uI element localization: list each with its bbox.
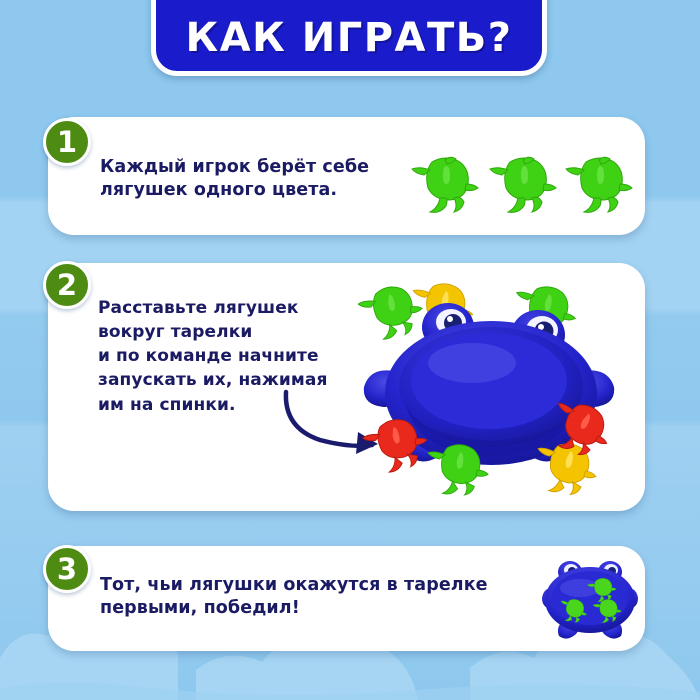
bowl-with-frogs-inside-art <box>540 552 640 644</box>
step-text-3: Тот, чьи лягушки окажутся в тарелке перв… <box>100 574 488 621</box>
frog-bowl-scene-art <box>352 275 642 500</box>
step-number-badge-1: 1 <box>43 118 91 166</box>
title-banner: КАК ИГРАТЬ? <box>151 0 547 76</box>
three-green-frogs-art <box>408 152 634 214</box>
step-number-badge-3: 3 <box>43 545 91 593</box>
step-text-1: Каждый игрок берёт себе лягушек одного ц… <box>100 156 369 203</box>
step-number-badge-2: 2 <box>43 261 91 309</box>
infographic-canvas: КАК ИГРАТЬ? 1 Каждый игрок берёт себе ля… <box>0 0 700 700</box>
page-title: КАК ИГРАТЬ? <box>186 18 513 71</box>
